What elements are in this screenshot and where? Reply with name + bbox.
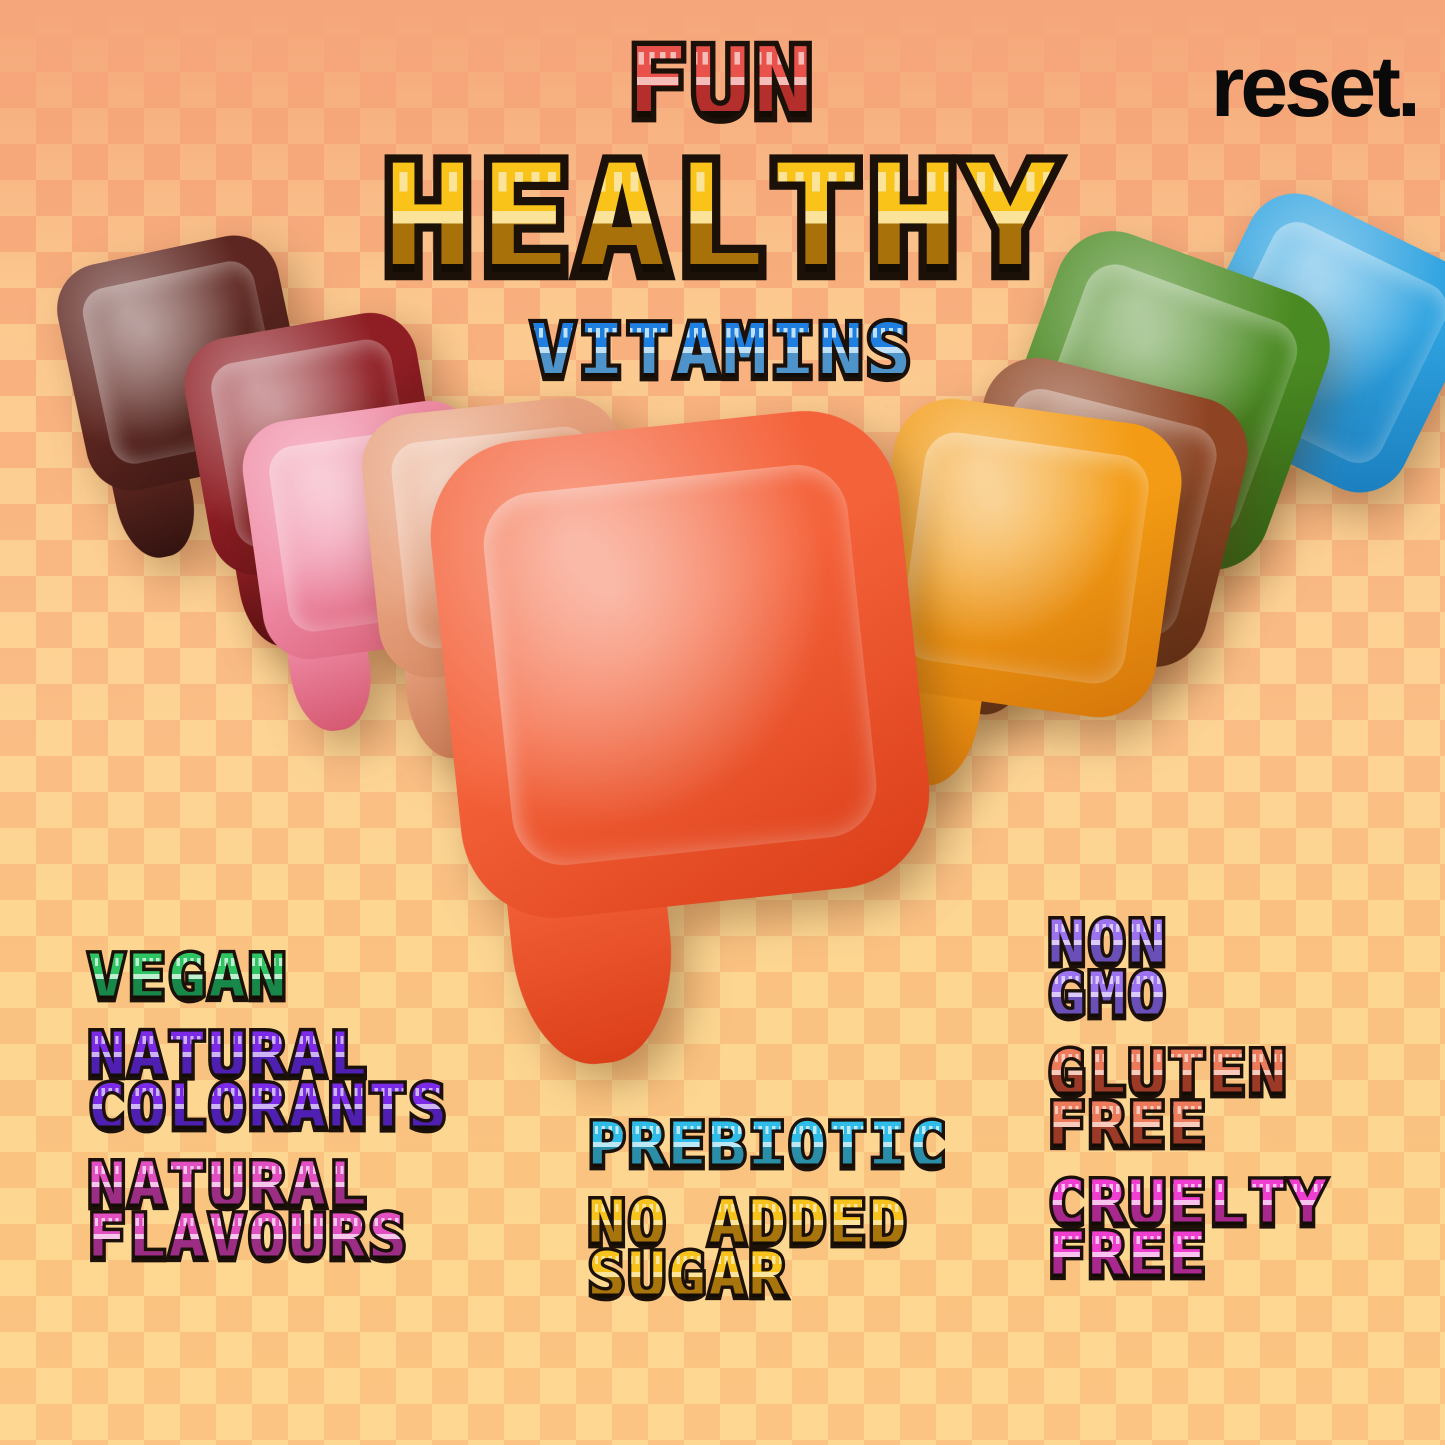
poster-canvas: reset. FUNFUNFUN HEALTHYHEALTHYHEALTHY V… xyxy=(0,0,1445,1445)
gummy-orange-big-body xyxy=(421,402,939,928)
claim-natural-flavours: NATURALNATURALNATURALFLAVOURSFLAVOURSFLA… xyxy=(88,1160,449,1264)
claim-natural-colorants: NATURALNATURALNATURALCOLORANTSCOLORANTSC… xyxy=(88,1030,449,1134)
claim-prebiotic-line: PREBIOTICPREBIOTICPREBIOTIC xyxy=(588,1120,949,1172)
gummy-orange-big xyxy=(421,402,939,928)
claims-column-left: VEGANVEGANVEGANNATURALNATURALNATURALCOLO… xyxy=(88,952,449,1290)
claim-natural-colorants-line: COLORANTSCOLORANTSCOLORANTS xyxy=(88,1082,449,1134)
claims-column-center: PREBIOTICPREBIOTICPREBIOTICNO ADDEDNO AD… xyxy=(588,1120,949,1328)
claim-vegan: VEGANVEGANVEGAN xyxy=(88,952,449,1004)
claim-gluten-free: GLUTENGLUTENGLUTENFREEFREEFREE xyxy=(1048,1048,1329,1152)
claim-vegan-line: VEGANVEGANVEGAN xyxy=(88,952,449,1004)
claim-non-gmo-line: GMOGMOGMO xyxy=(1048,970,1329,1022)
claim-no-added-sugar: NO ADDEDNO ADDEDNO ADDEDSUGARSUGARSUGAR xyxy=(588,1198,949,1302)
claim-prebiotic: PREBIOTICPREBIOTICPREBIOTIC xyxy=(588,1120,949,1172)
claim-natural-flavours-line: FLAVOURSFLAVOURSFLAVOURS xyxy=(88,1212,449,1264)
claims-grid: VEGANVEGANVEGANNATURALNATURALNATURALCOLO… xyxy=(0,930,1445,1390)
headline-line-fun: FUNFUNFUN xyxy=(0,28,1445,140)
claim-cruelty-free: CRUELTYCRUELTYCRUELTYFREEFREEFREE xyxy=(1048,1178,1329,1282)
claim-non-gmo: NONNONNONGMOGMOGMO xyxy=(1048,918,1329,1022)
claims-column-right: NONNONNONGMOGMOGMOGLUTENGLUTENGLUTENFREE… xyxy=(1048,918,1329,1308)
